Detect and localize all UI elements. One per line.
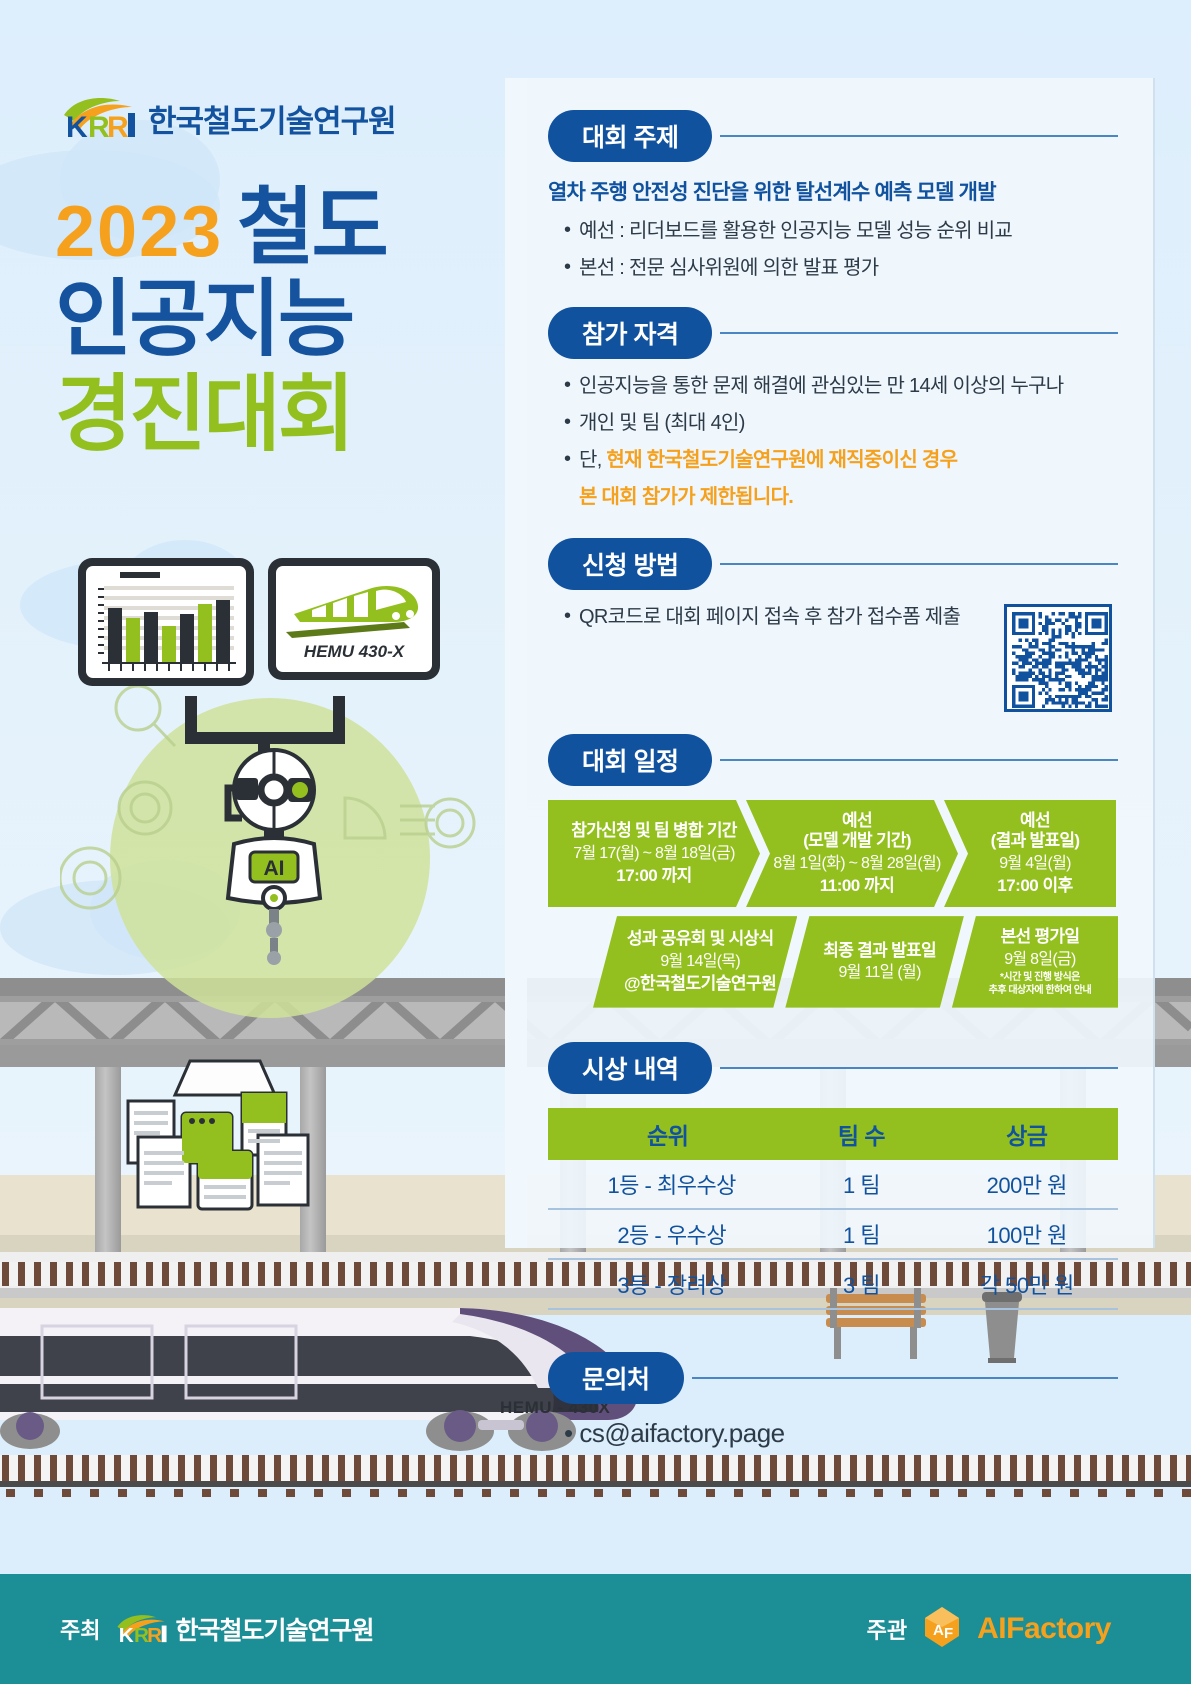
step-note-line-2: 추후 대상자에 한하여 안내 bbox=[989, 985, 1092, 997]
header-rule bbox=[692, 1377, 1118, 1379]
section-contact: 문의처 cs@aifactory.page bbox=[548, 1352, 1118, 1449]
step-date: 9월 11일 (월) bbox=[838, 963, 920, 983]
step-title: 본선 평가일 bbox=[1001, 927, 1080, 947]
cell-teams: 3 팀 bbox=[787, 1259, 935, 1309]
poster-root: K R R 한국철도기술연구원 2023 철도 인공지능 경진대회 bbox=[0, 0, 1191, 1684]
section-prizes-header: 시상 내역 bbox=[548, 1042, 1118, 1094]
schedule-step: 예선 (모델 개발 기간) 8월 1일(화) ~ 8월 28일(월) 11:00… bbox=[746, 800, 958, 907]
organizer-label: 주관 bbox=[867, 1613, 907, 1645]
step-time: 17:00 이후 bbox=[997, 876, 1072, 896]
section-topic-header: 대회 주제 bbox=[548, 110, 1118, 162]
step-date: 8월 1일(화) ~ 8월 28일(월) bbox=[773, 854, 940, 874]
contact-email[interactable]: cs@aifactory.page bbox=[564, 1418, 1118, 1449]
list-item: 인공지능을 통한 문제 해결에 관심있는 만 14세 이상의 누구나 bbox=[564, 373, 1118, 399]
footer-host: 주최 K R R 한국철도기술연구원 bbox=[60, 1611, 374, 1647]
table-row: 2등 - 우수상 1 팀 100만 원 bbox=[548, 1209, 1118, 1259]
restriction-prefix: 단, bbox=[579, 449, 606, 471]
list-item: 예선 : 리더보드를 활용한 인공지능 모델 성능 순위 비교 bbox=[564, 218, 1118, 244]
host-name: 한국철도기술연구원 bbox=[175, 1611, 373, 1647]
svg-text:K: K bbox=[66, 111, 88, 141]
host-label: 주최 bbox=[60, 1613, 100, 1645]
restriction-line-2: 본 대회 참가가 제한됩니다. bbox=[579, 486, 793, 508]
step-title: 예선 bbox=[1020, 811, 1050, 831]
header-rule bbox=[720, 332, 1118, 334]
svg-text:AI: AI bbox=[264, 857, 285, 880]
topic-bullet-list: 예선 : 리더보드를 활용한 인공지능 모델 성능 순위 비교 본선 : 전문 … bbox=[548, 218, 1118, 281]
schedule-row-1: 참가신청 및 팀 병합 기간 7월 17(월) ~ 8월 18일(금) 17:0… bbox=[548, 800, 1118, 907]
cell-prize: 200만 원 bbox=[936, 1160, 1118, 1209]
header-rule bbox=[720, 135, 1118, 137]
step-date: 9월 14일(목) bbox=[660, 952, 740, 972]
info-panel-content: 대회 주제 열차 주행 안전성 진단을 위한 탈선계수 예측 모델 개발 예선 … bbox=[548, 110, 1118, 1455]
prize-table: 순위 팀 수 상금 1등 - 최우수상 1 팀 200만 원 2등 - 우수상 … bbox=[548, 1108, 1118, 1310]
step-time: 11:00 까지 bbox=[820, 876, 895, 896]
schedule-chevrons: 참가신청 및 팀 병합 기간 7월 17(월) ~ 8월 18일(금) 17:0… bbox=[548, 800, 1118, 1008]
section-apply-header: 신청 방법 bbox=[548, 538, 1118, 590]
footer-krri-logo: K R R 한국철도기술연구원 bbox=[116, 1611, 373, 1647]
bridge-pillar bbox=[95, 1067, 121, 1277]
poster-title: 2023 철도 인공지능 경진대회 bbox=[55, 188, 495, 459]
step-subtitle: (결과 발표일) bbox=[991, 831, 1080, 851]
svg-text:K: K bbox=[119, 1624, 134, 1646]
section-schedule: 대회 일정 참가신청 및 팀 병합 기간 7월 17(월) ~ 8월 18일(금… bbox=[548, 734, 1118, 1008]
cell-prize: 각 50만 원 bbox=[936, 1259, 1118, 1309]
section-eligibility-heading: 참가 자격 bbox=[548, 307, 712, 359]
section-contact-heading: 문의처 bbox=[548, 1352, 684, 1404]
topic-title: 열차 주행 안전성 진단을 위한 탈선계수 예측 모델 개발 bbox=[548, 176, 1118, 206]
organizer-name: AIFactory bbox=[977, 1612, 1111, 1646]
section-apply: 신청 방법 QR코드로 대회 페이지 접속 후 참가 접수폼 제출 bbox=[548, 538, 1118, 712]
section-prizes: 시상 내역 순위 팀 수 상금 1등 - 최우수상 1 팀 200만 원 bbox=[548, 1042, 1118, 1310]
section-schedule-heading: 대회 일정 bbox=[548, 734, 712, 786]
step-date: 9월 4일(월) bbox=[999, 854, 1070, 874]
step-subtitle: (모델 개발 기간) bbox=[803, 831, 911, 851]
poster-footer: 주최 K R R 한국철도기술연구원 주관 A bbox=[0, 1574, 1191, 1684]
schedule-row-2: 성과 공유회 및 시상식 9월 14일(목) @한국철도기술연구원 최종 결과 … bbox=[548, 916, 1118, 1007]
section-eligibility: 참가 자격 인공지능을 통한 문제 해결에 관심있는 만 14세 이상의 누구나… bbox=[548, 307, 1118, 510]
table-header-row: 순위 팀 수 상금 bbox=[548, 1108, 1118, 1160]
rail-lower bbox=[0, 1455, 1191, 1497]
cell-rank: 1등 - 최우수상 bbox=[548, 1160, 787, 1209]
svg-text:R: R bbox=[148, 1624, 163, 1646]
step-title: 참가신청 및 팀 병합 기간 bbox=[571, 821, 737, 841]
list-item-restriction-cont: 본 대회 참가가 제한됩니다. bbox=[579, 484, 1118, 510]
title-line-2: 인공지능 bbox=[55, 274, 495, 365]
schedule-step: 본선 평가일 9월 8일(금) *시간 및 진행 방식은 추후 대상자에 한하여… bbox=[952, 916, 1118, 1007]
eligibility-bullet-list: 인공지능을 통한 문제 해결에 관심있는 만 14세 이상의 누구나 개인 및 … bbox=[548, 373, 1118, 510]
section-topic-heading: 대회 주제 bbox=[548, 110, 712, 162]
cell-prize: 100만 원 bbox=[936, 1209, 1118, 1259]
krri-logo: K R R 한국철도기술연구원 bbox=[62, 95, 396, 141]
header-rule bbox=[720, 1067, 1118, 1069]
cell-teams: 1 팀 bbox=[787, 1160, 935, 1209]
section-contact-header: 문의처 bbox=[548, 1352, 1118, 1404]
ai-robot-figure: AI bbox=[212, 748, 332, 928]
section-schedule-header: 대회 일정 bbox=[548, 734, 1118, 786]
step-note-line-1: *시간 및 진행 방식은 bbox=[1000, 972, 1080, 984]
section-eligibility-header: 참가 자격 bbox=[548, 307, 1118, 359]
table-row: 3등 - 장려상 3 팀 각 50만 원 bbox=[548, 1259, 1118, 1309]
column-header-prize: 상금 bbox=[936, 1108, 1118, 1160]
table-row: 1등 - 최우수상 1 팀 200만 원 bbox=[548, 1160, 1118, 1209]
apply-row: QR코드로 대회 페이지 접속 후 참가 접수폼 제출 bbox=[548, 604, 1118, 712]
cell-rank: 2등 - 우수상 bbox=[548, 1209, 787, 1259]
train-screen-label: HEMU 430-X bbox=[276, 642, 432, 662]
krri-logo-mark: K R R bbox=[62, 95, 140, 141]
title-year: 2023 bbox=[55, 198, 223, 266]
title-line-3: 경진대회 bbox=[55, 369, 495, 460]
documents-pile bbox=[120, 1055, 350, 1215]
section-apply-heading: 신청 방법 bbox=[548, 538, 712, 590]
step-time: 17:00 까지 bbox=[616, 866, 691, 886]
column-header-teams: 팀 수 bbox=[787, 1108, 935, 1160]
schedule-step: 예선 (결과 발표일) 9월 4일(월) 17:00 이후 bbox=[944, 800, 1116, 907]
schedule-step: 참가신청 및 팀 병합 기간 7월 17(월) ~ 8월 18일(금) 17:0… bbox=[548, 800, 760, 907]
list-item-restriction: 단, 현재 한국철도기술연구원에 재직중이신 경우 bbox=[564, 447, 1118, 473]
apply-bullet-list: QR코드로 대회 페이지 접속 후 참가 접수폼 제출 bbox=[548, 604, 1004, 641]
hero-illustration: HEMU 430-X AI bbox=[60, 548, 490, 1008]
svg-text:R: R bbox=[107, 111, 129, 141]
step-date: 9월 8일(금) bbox=[1004, 950, 1075, 970]
cell-rank: 3등 - 장려상 bbox=[548, 1259, 787, 1309]
footer-organizer: 주관 A F AIFactory bbox=[867, 1605, 1111, 1654]
list-item: 본선 : 전문 심사위원에 의한 발표 평가 bbox=[564, 255, 1118, 281]
step-date: 7월 17(월) ~ 8월 18일(금) bbox=[573, 844, 734, 864]
svg-text:A: A bbox=[933, 1622, 944, 1639]
train-monitor: HEMU 430-X bbox=[268, 558, 440, 680]
column-header-rank: 순위 bbox=[548, 1108, 787, 1160]
header-rule bbox=[720, 759, 1118, 761]
bar-chart-monitor bbox=[78, 558, 254, 686]
schedule-step: 성과 공유회 및 시상식 9월 14일(목) @한국철도기술연구원 bbox=[593, 916, 797, 1007]
qr-code[interactable] bbox=[1004, 604, 1112, 712]
section-topic: 대회 주제 열차 주행 안전성 진단을 위한 탈선계수 예측 모델 개발 예선 … bbox=[548, 110, 1118, 281]
title-line-1: 철도 bbox=[237, 188, 386, 268]
krri-org-name: 한국철도기술연구원 bbox=[148, 96, 396, 141]
step-title: 성과 공유회 및 시상식 bbox=[627, 929, 774, 949]
step-title: 최종 결과 발표일 bbox=[823, 941, 936, 961]
list-item: 개인 및 팀 (최대 4인) bbox=[564, 410, 1118, 436]
step-time: @한국철도기술연구원 bbox=[624, 974, 776, 994]
header-rule bbox=[720, 563, 1118, 565]
step-title: 예선 bbox=[842, 811, 872, 831]
cell-teams: 1 팀 bbox=[787, 1209, 935, 1259]
schedule-step: 최종 결과 발표일 9월 11일 (월) bbox=[785, 916, 964, 1007]
list-item: QR코드로 대회 페이지 접속 후 참가 접수폼 제출 bbox=[564, 604, 1004, 630]
restriction-line-1: 현재 한국철도기술연구원에 재직중이신 경우 bbox=[606, 449, 957, 471]
section-prizes-heading: 시상 내역 bbox=[548, 1042, 712, 1094]
svg-text:F: F bbox=[944, 1625, 953, 1642]
aifactory-logo-icon: A F bbox=[923, 1605, 961, 1654]
